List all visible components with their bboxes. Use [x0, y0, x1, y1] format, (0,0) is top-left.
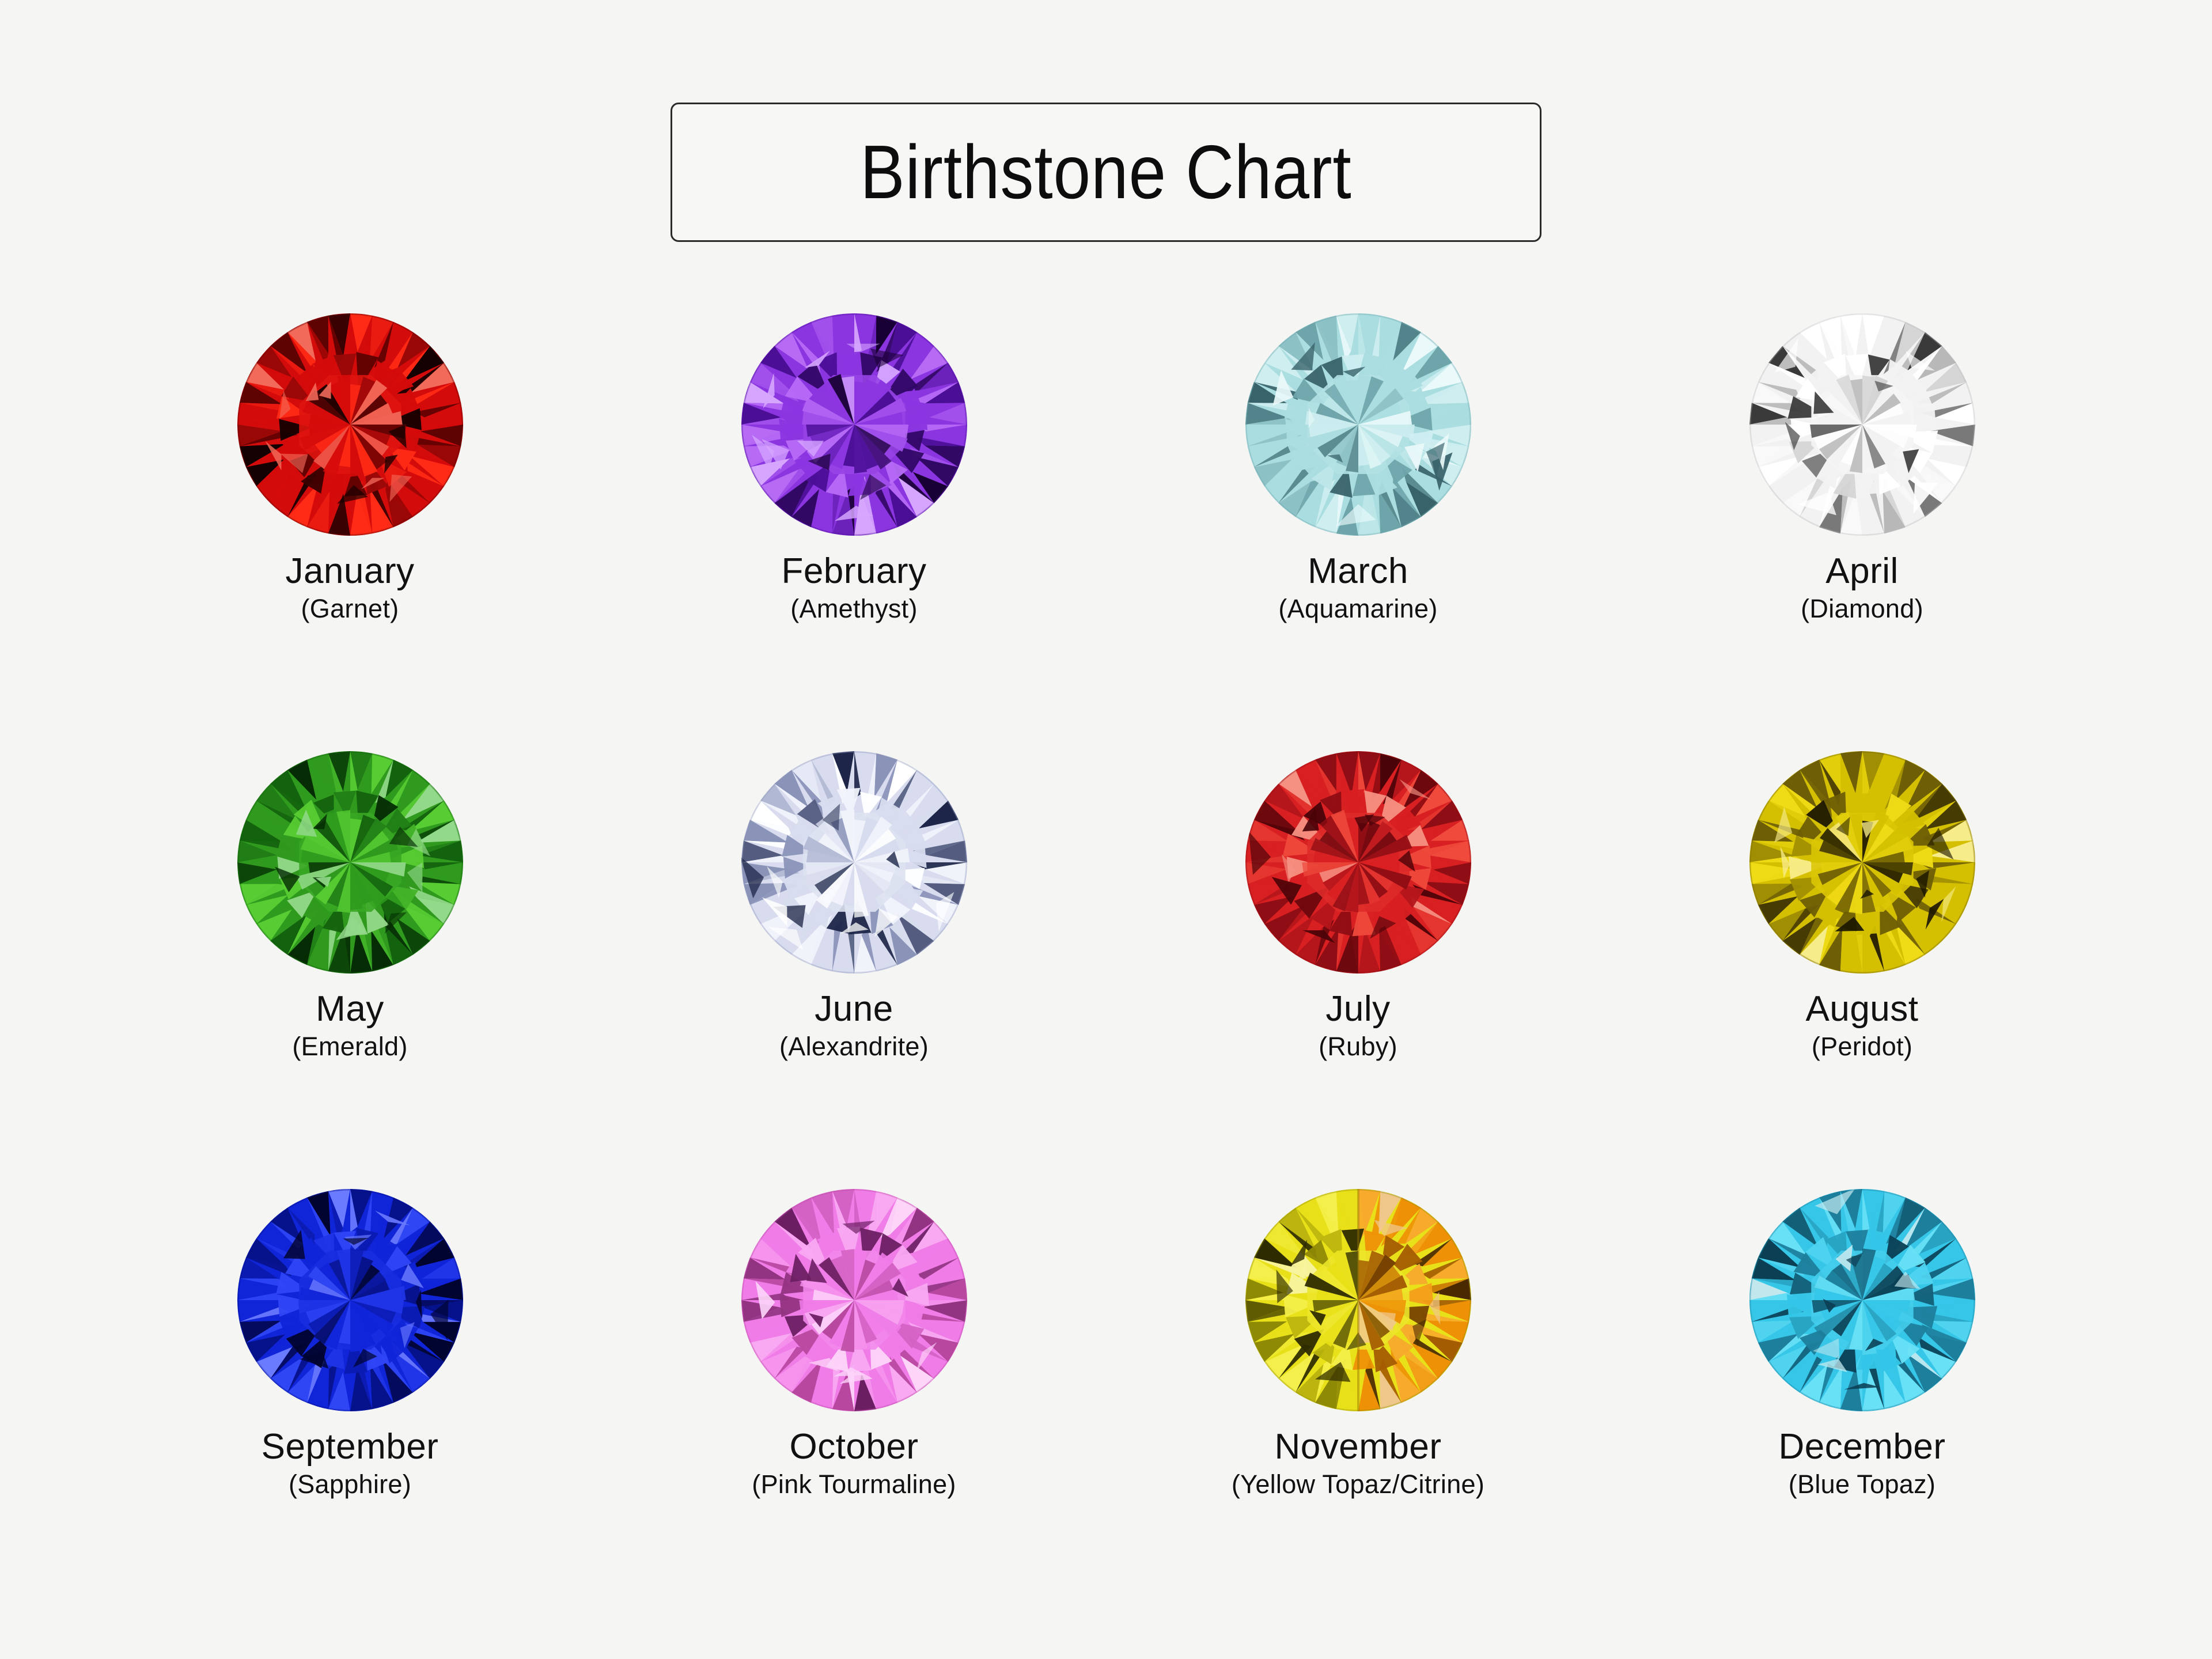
birthstone-cell: August(Peridot) — [1610, 749, 2114, 1187]
title-box: Birthstone Chart — [671, 103, 1541, 242]
month-label: January — [285, 553, 414, 590]
birthstone-grid: January(Garnet)February(Amethyst)March(A… — [98, 311, 2114, 1624]
stone-label: (Ruby) — [1319, 1033, 1397, 1060]
birthstone-cell: January(Garnet) — [98, 311, 602, 749]
title-banner: Birthstone Chart — [0, 103, 2212, 242]
birthstone-cell: March(Aquamarine) — [1106, 311, 1610, 749]
stone-label: (Garnet) — [301, 596, 399, 623]
birthstone-cell: October(Pink Tourmaline) — [602, 1187, 1106, 1624]
month-label: November — [1275, 1429, 1442, 1465]
month-label: April — [1825, 553, 1899, 590]
round-brilliant-gem-icon — [235, 1187, 465, 1414]
birthstone-cell: July(Ruby) — [1106, 749, 1610, 1187]
stone-label: (Alexandrite) — [779, 1033, 929, 1060]
month-label: March — [1308, 553, 1408, 590]
month-label: August — [1805, 991, 1918, 1028]
round-brilliant-gem-icon — [1243, 749, 1474, 976]
birthstone-cell: May(Emerald) — [98, 749, 602, 1187]
stone-label: (Emerald) — [292, 1033, 407, 1060]
month-label: May — [316, 991, 384, 1028]
page-title: Birthstone Chart — [860, 134, 1351, 210]
month-label: December — [1779, 1429, 1946, 1465]
round-brilliant-gem-icon — [1243, 311, 1474, 538]
stone-label: (Blue Topaz) — [1789, 1471, 1935, 1498]
round-brilliant-gem-split-icon — [1243, 1187, 1474, 1414]
round-brilliant-gem-icon — [739, 311, 969, 538]
month-label: September — [262, 1429, 439, 1465]
round-brilliant-gem-icon — [1747, 1187, 1978, 1414]
stone-label: (Sapphire) — [289, 1471, 411, 1498]
month-label: October — [789, 1429, 918, 1465]
birthstone-cell: February(Amethyst) — [602, 311, 1106, 749]
round-brilliant-gem-icon — [739, 749, 969, 976]
stone-label: (Yellow Topaz/Citrine) — [1232, 1471, 1484, 1498]
stone-label: (Diamond) — [1801, 596, 1923, 623]
month-label: February — [781, 553, 926, 590]
round-brilliant-gem-icon — [1747, 749, 1978, 976]
round-brilliant-gem-icon — [739, 1187, 969, 1414]
stone-label: (Peridot) — [1812, 1033, 1912, 1060]
birthstone-cell: November(Yellow Topaz/Citrine) — [1106, 1187, 1610, 1624]
birthstone-cell: December(Blue Topaz) — [1610, 1187, 2114, 1624]
month-label: July — [1325, 991, 1390, 1028]
month-label: June — [815, 991, 893, 1028]
birthstone-cell: September(Sapphire) — [98, 1187, 602, 1624]
birthstone-cell: April(Diamond) — [1610, 311, 2114, 749]
stone-label: (Pink Tourmaline) — [752, 1471, 956, 1498]
round-brilliant-gem-icon — [1747, 311, 1978, 538]
stone-label: (Amethyst) — [790, 596, 918, 623]
stone-label: (Aquamarine) — [1278, 596, 1437, 623]
round-brilliant-gem-icon — [235, 311, 465, 538]
round-brilliant-gem-icon — [235, 749, 465, 976]
birthstone-cell: June(Alexandrite) — [602, 749, 1106, 1187]
